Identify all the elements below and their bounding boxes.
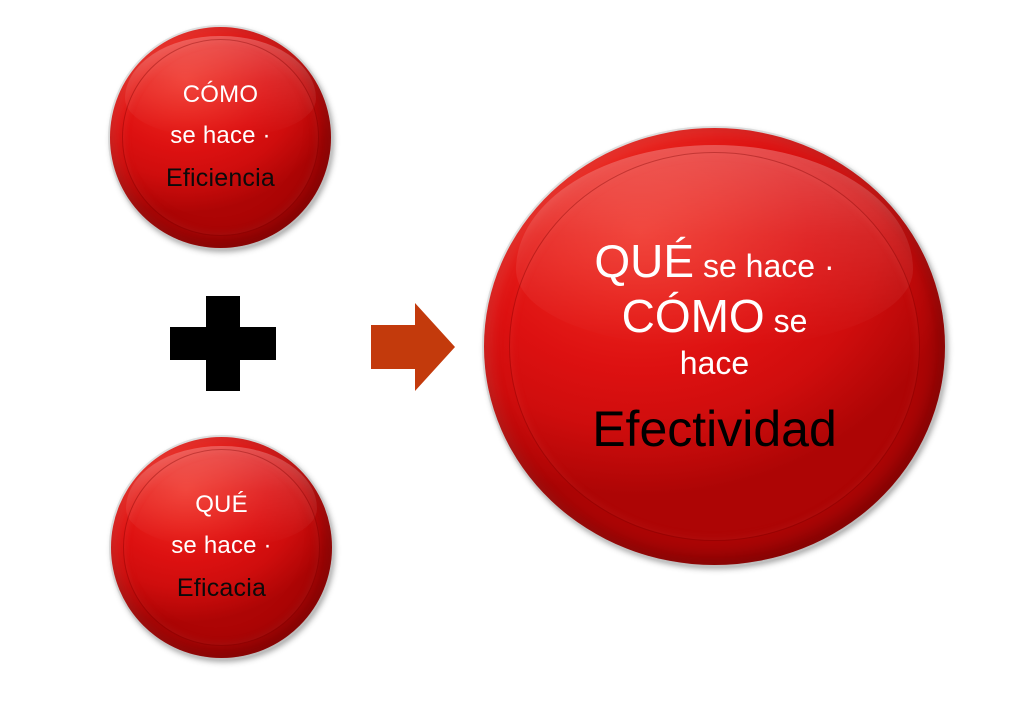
eficacia-line-que: QUÉ (111, 485, 332, 526)
efectividad-word-se-hace: se hace · (694, 248, 835, 284)
efectividad-word-hace: hace (680, 345, 749, 381)
efectividad-word-como: CÓMO (622, 290, 765, 342)
arrow-right-shape (371, 303, 455, 391)
circle-efectividad-text: QUÉ se hace · CÓMO se hace Efectividad (484, 234, 945, 459)
efectividad-row-3: hace (484, 344, 945, 382)
eficiencia-line-como: CÓMO (110, 75, 331, 116)
diagram-canvas: CÓMO se hace · Eficiencia QUÉ se hace · … (0, 0, 1021, 717)
circle-eficiencia[interactable]: CÓMO se hace · Eficiencia (110, 27, 331, 248)
arrow-right-icon (371, 303, 455, 391)
plus-vertical-bar (206, 296, 240, 391)
efectividad-row-2: CÓMO se (484, 289, 945, 344)
circle-efectividad[interactable]: QUÉ se hace · CÓMO se hace Efectividad (484, 128, 945, 565)
circle-eficiencia-text: CÓMO se hace · Eficiencia (110, 75, 331, 199)
eficiencia-line-se-hace: se hace · (110, 116, 331, 157)
efectividad-word-que: QUÉ (594, 235, 694, 287)
efectividad-label: Efectividad (484, 399, 945, 459)
eficiencia-line-label: Eficiencia (110, 157, 331, 200)
eficacia-line-se-hace: se hace · (111, 526, 332, 567)
efectividad-row-1: QUÉ se hace · (484, 234, 945, 289)
efectividad-word-se: se (765, 303, 808, 339)
plus-operator-icon (170, 296, 276, 391)
eficacia-line-label: Eficacia (111, 567, 332, 610)
circle-eficacia[interactable]: QUÉ se hace · Eficacia (111, 437, 332, 658)
circle-eficacia-text: QUÉ se hace · Eficacia (111, 485, 332, 609)
